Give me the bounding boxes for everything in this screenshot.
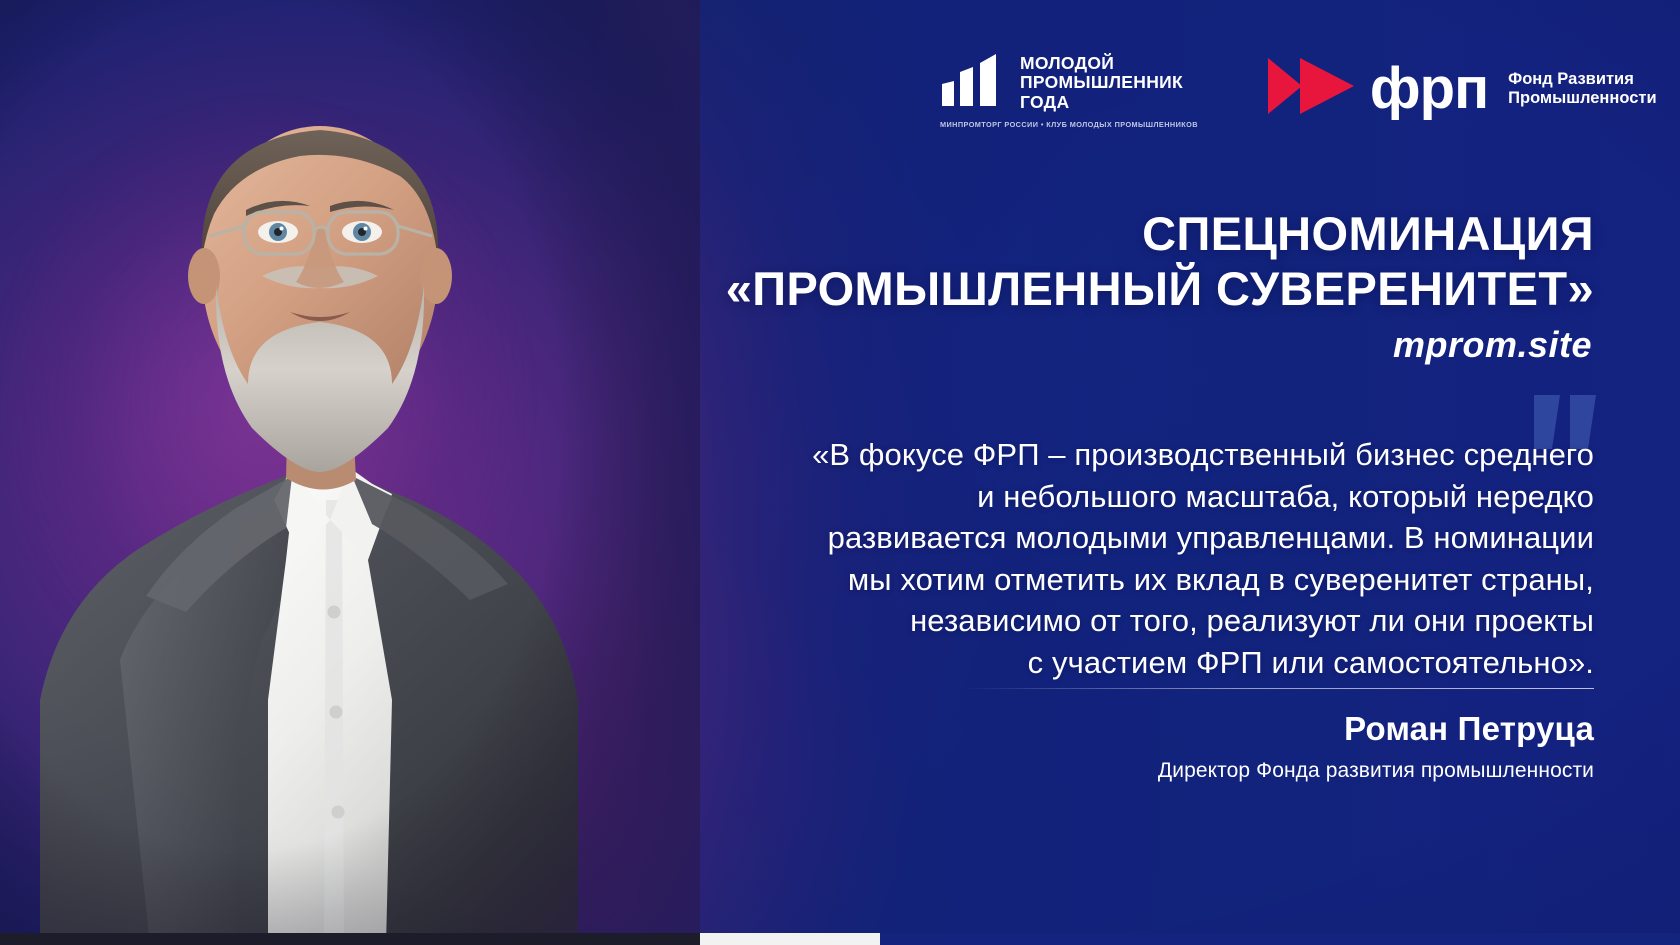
logo-bar: МОЛОДОЙ ПРОМЫШЛЕННИК ГОДА МИНПРОМТОРГ РО… (940, 52, 1657, 129)
bottom-strip-left (0, 933, 700, 945)
logo-molodoy-promyshlennik-goda: МОЛОДОЙ ПРОМЫШЛЕННИК ГОДА МИНПРОМТОРГ РО… (940, 52, 1198, 129)
attribution-name: Роман Петруца (834, 708, 1594, 750)
logo-frp-subtitle: Фонд Развития Промышленности (1508, 70, 1656, 108)
site-url: mprom.site (1393, 325, 1592, 365)
quote-text: «В фокусе ФРП – производственный бизнес … (654, 434, 1594, 683)
page-title: СПЕЦНОМИНАЦИЯ «ПРОМЫШЛЕННЫЙ СУВЕРЕНИТЕТ» (634, 206, 1594, 316)
bottom-strip-right (880, 933, 1680, 945)
poster-canvas: МОЛОДОЙ ПРОМЫШЛЕННИК ГОДА МИНПРОМТОРГ РО… (0, 0, 1680, 945)
logo-mpg-tagline: МИНПРОМТОРГ РОССИИ • КЛУБ МОЛОДЫХ ПРОМЫШ… (940, 120, 1198, 129)
logo-mpg-wordmark: МОЛОДОЙ ПРОМЫШЛЕННИК ГОДА (1020, 54, 1183, 114)
attribution-block: Роман Петруца Директор Фонда развития пр… (834, 708, 1594, 784)
attribution-divider (964, 688, 1594, 689)
logo-frp-wordmark: фрп (1370, 63, 1488, 115)
bar-chart-mark-icon (940, 52, 1006, 113)
attribution-role: Директор Фонда развития промышленности (834, 758, 1594, 784)
double-triangle-mark-icon (1266, 54, 1358, 123)
logo-frp: фрп Фонд Развития Промышленности (1266, 52, 1657, 123)
logo-mpg-top-row: МОЛОДОЙ ПРОМЫШЛЕННИК ГОДА (940, 52, 1183, 113)
bottom-strip (0, 933, 1680, 945)
